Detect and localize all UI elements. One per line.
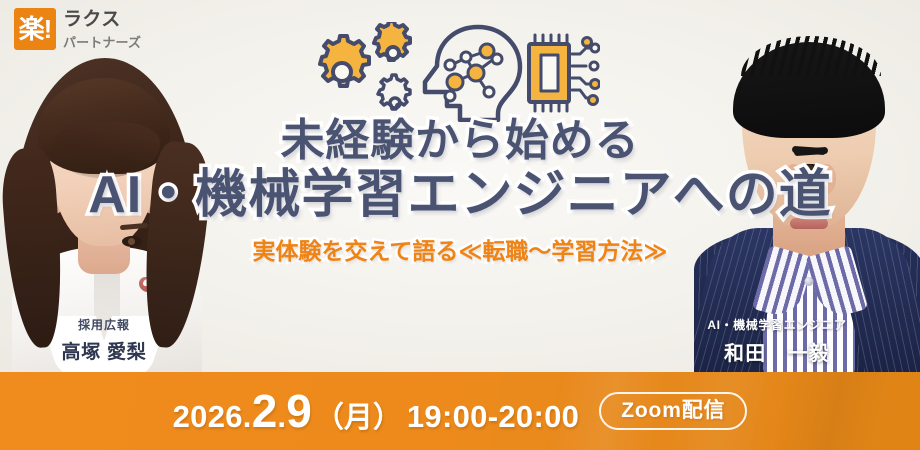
logo-brand-name: ラクス — [63, 10, 141, 30]
zoom-delivery-badge: Zoom配信 — [599, 392, 747, 430]
raksul-partners-logo[interactable]: 楽! ラクス パートナーズ — [14, 8, 141, 51]
gear-icon — [374, 22, 410, 60]
gear-icon — [320, 36, 369, 86]
event-month: 2 — [252, 384, 278, 438]
event-day: 9 — [286, 384, 312, 438]
speaker-nameplate-right: AI・機械学習エンジニア 和田 一毅 — [634, 316, 920, 366]
speaker-role-right: AI・機械学習エンジニア — [634, 316, 920, 333]
logo-text: ラクス パートナーズ — [63, 8, 141, 51]
event-weekday: （月） — [315, 394, 402, 436]
speaker-name-left: 高塚 愛梨 — [0, 337, 208, 364]
event-time: 19:00-20:00 — [407, 399, 579, 435]
event-year: 2026. — [173, 399, 252, 435]
gear-icon — [378, 75, 410, 109]
title-block: 未経験から始める AI・機械学習エンジニアへの道 実体験を交えて語る≪転職〜学習… — [0, 118, 920, 266]
page-title-line-2: AI・機械学習エンジニアへの道 — [0, 168, 920, 223]
speaker-name-right: 和田 一毅 — [634, 337, 920, 366]
logo-brand-sub: パートナーズ — [63, 32, 141, 51]
brain-head-neural-network-icon — [425, 27, 520, 120]
circuit-traces-icon — [572, 38, 600, 105]
event-datetime-bar: 2026. 2 . 9 （月） 19:00-20:00 Zoom配信 — [0, 372, 920, 450]
webinar-banner: 未経験から始める AI・機械学習エンジニアへの道 実体験を交えて語る≪転職〜学習… — [0, 0, 920, 450]
shirt-button — [805, 277, 814, 286]
logo-mark-icon: 楽! — [14, 8, 56, 50]
date-separator: . — [277, 399, 286, 435]
page-title-line-1: 未経験から始める — [0, 118, 920, 164]
page-subtitle: 実体験を交えて語る≪転職〜学習方法≫ — [0, 232, 920, 266]
ai-machine-learning-illustration — [300, 22, 600, 122]
speaker-role-left: 採用広報 — [0, 316, 208, 333]
cpu-chip-icon — [529, 35, 569, 111]
speaker-nameplate-left: 採用広報 高塚 愛梨 — [0, 316, 208, 364]
event-datetime: 2026. 2 . 9 （月） 19:00-20:00 — [173, 384, 580, 438]
